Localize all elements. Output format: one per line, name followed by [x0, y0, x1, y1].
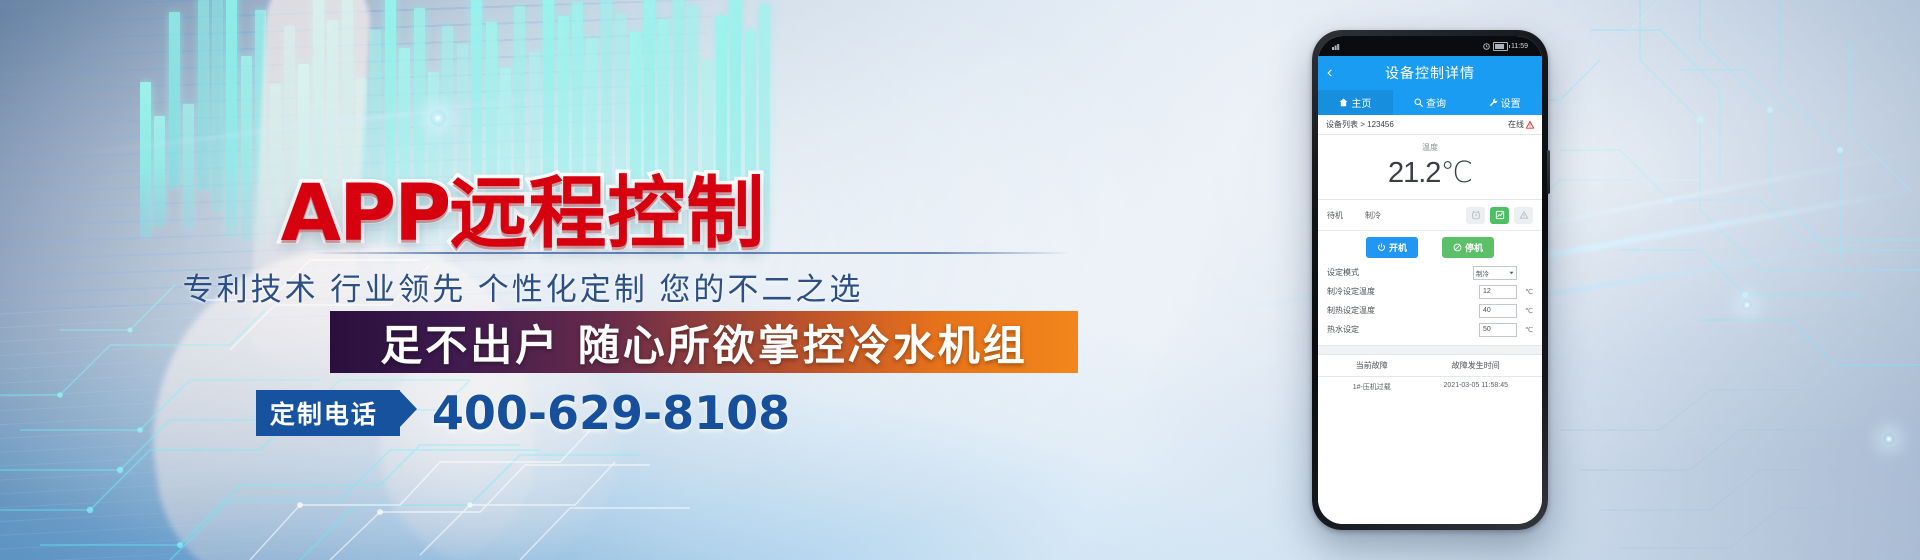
section-divider	[1318, 345, 1542, 355]
tel-number[interactable]: 400-629-8108	[432, 386, 790, 440]
power-on-button[interactable]: 开机	[1366, 237, 1418, 258]
status-time: 11:59	[1511, 43, 1528, 50]
hotwater-input[interactable]: 50	[1479, 323, 1517, 337]
hero-copy: APP远程控制 专利技术 行业领先 个性化定制 您的不二之选 足不出户 随心所欲…	[0, 0, 1120, 560]
wrench-icon	[1489, 98, 1498, 107]
temperature-readout: 温度 21.2℃	[1318, 135, 1542, 200]
setting-unit-cool-temp: ℃	[1517, 288, 1533, 296]
tab-settings[interactable]: 设置	[1467, 90, 1542, 115]
tab-home-label: 主页	[1351, 95, 1371, 110]
stop-icon	[1453, 243, 1462, 252]
setting-label-mode: 设定模式	[1327, 267, 1473, 278]
phone-screen: 11:59 ‹ 设备控制详情 主页	[1318, 36, 1542, 524]
power-off-label: 停机	[1465, 241, 1483, 254]
chart-icon-button[interactable]	[1490, 207, 1509, 224]
status-bar: 11:59	[1318, 36, 1542, 56]
status-badge-label: 在线	[1508, 119, 1524, 130]
heat-temp-input[interactable]: 40	[1479, 304, 1517, 318]
status-right-icons: 11:59	[1483, 42, 1528, 51]
breadcrumb: 设备列表 > 123456 在线	[1318, 115, 1542, 135]
setting-label-hotwater: 热水设定	[1327, 324, 1479, 335]
breadcrumb-path[interactable]: 设备列表 > 123456	[1326, 119, 1394, 130]
mode-select-value: 制冷	[1476, 268, 1489, 278]
battery-icon	[1493, 42, 1508, 51]
chart-icon	[1495, 210, 1505, 220]
home-icon	[1339, 98, 1348, 107]
status-badge: 在线	[1508, 119, 1534, 130]
cool-temp-input[interactable]: 12	[1479, 285, 1517, 299]
tab-bar: 主页 查询 设置	[1318, 90, 1542, 115]
hero-subtitle: 专利技术 行业领先 个性化定制 您的不二之选	[0, 264, 1046, 309]
power-off-button[interactable]: 停机	[1442, 237, 1494, 258]
temperature-label: 温度	[1318, 142, 1542, 153]
state-mode-label: 制冷	[1365, 210, 1461, 221]
fault-table: 当前故障 故障发生时间 1#-压机过载 2021-03-05 11:58:45	[1318, 355, 1542, 397]
sparkle-icon	[1742, 300, 1752, 310]
fault-table-header: 当前故障 故障发生时间	[1318, 355, 1542, 377]
power-on-label: 开机	[1389, 241, 1407, 254]
telephone-row: 定制电话 400-629-8108	[0, 386, 1046, 440]
timer-icon	[1471, 210, 1481, 220]
setting-label-cool-temp: 制冷设定温度	[1327, 286, 1479, 297]
fault-header-time: 故障发生时间	[1418, 360, 1534, 371]
setting-row-cool-temp: 制冷设定温度 12 ℃	[1318, 282, 1542, 301]
tab-search[interactable]: 查询	[1393, 90, 1468, 115]
warning-triangle-icon	[1526, 121, 1534, 129]
back-chevron-left-icon[interactable]: ‹	[1327, 65, 1332, 81]
hero-bar-text: 足不出户 随心所欲掌控冷水机组	[380, 312, 1028, 373]
setting-row-heat-temp: 制热设定温度 40 ℃	[1318, 301, 1542, 320]
action-row: 开机 停机	[1318, 231, 1542, 263]
sparkle-icon	[1884, 434, 1894, 444]
app-bar: ‹ 设备控制详情	[1318, 56, 1542, 90]
status-left-icons	[1332, 43, 1341, 50]
state-standby-label: 待机	[1327, 210, 1365, 221]
tab-search-label: 查询	[1426, 95, 1446, 110]
phone-mockup: 11:59 ‹ 设备控制详情 主页	[1312, 30, 1548, 530]
power-icon	[1377, 243, 1386, 252]
temperature-value: 21.2℃	[1318, 155, 1542, 190]
state-row: 待机 制冷	[1318, 200, 1542, 231]
fault-header-current: 当前故障	[1326, 360, 1418, 371]
mode-select[interactable]: 制冷	[1473, 266, 1517, 280]
alert-icon-button[interactable]	[1514, 207, 1533, 224]
search-icon	[1414, 98, 1423, 107]
hero-highlight-bar: 足不出户 随心所欲掌控冷水机组	[330, 311, 1078, 373]
timer-icon-button[interactable]	[1466, 207, 1485, 224]
setting-row-hotwater: 热水设定 50 ℃	[1318, 320, 1542, 339]
page-title: APP远程控制	[0, 175, 1046, 253]
screen-empty-area	[1318, 397, 1542, 524]
tab-home[interactable]: 主页	[1318, 90, 1393, 115]
setting-unit-heat-temp: ℃	[1517, 307, 1533, 315]
signal-icon	[1332, 43, 1341, 50]
tab-settings-label: 设置	[1501, 95, 1521, 110]
alarm-icon	[1483, 43, 1490, 50]
headline-cn: 远程控制	[449, 169, 765, 259]
fault-time: 2021-03-05 11:58:45	[1418, 382, 1534, 392]
setting-row-mode: 设定模式 制冷	[1318, 263, 1542, 282]
chevron-down-icon	[1509, 271, 1514, 275]
promo-banner: APP远程控制 专利技术 行业领先 个性化定制 您的不二之选 足不出户 随心所欲…	[0, 0, 1920, 560]
headline-latin: APP	[281, 169, 450, 259]
fault-name: 1#-压机过载	[1326, 382, 1418, 392]
setting-label-heat-temp: 制热设定温度	[1327, 305, 1479, 316]
tel-label-tag: 定制电话	[256, 390, 400, 436]
app-bar-title: 设备控制详情	[1318, 63, 1542, 83]
table-row[interactable]: 1#-压机过载 2021-03-05 11:58:45	[1318, 377, 1542, 397]
setting-unit-hotwater: ℃	[1517, 326, 1533, 334]
alert-icon	[1519, 210, 1529, 220]
divider	[310, 252, 1070, 254]
